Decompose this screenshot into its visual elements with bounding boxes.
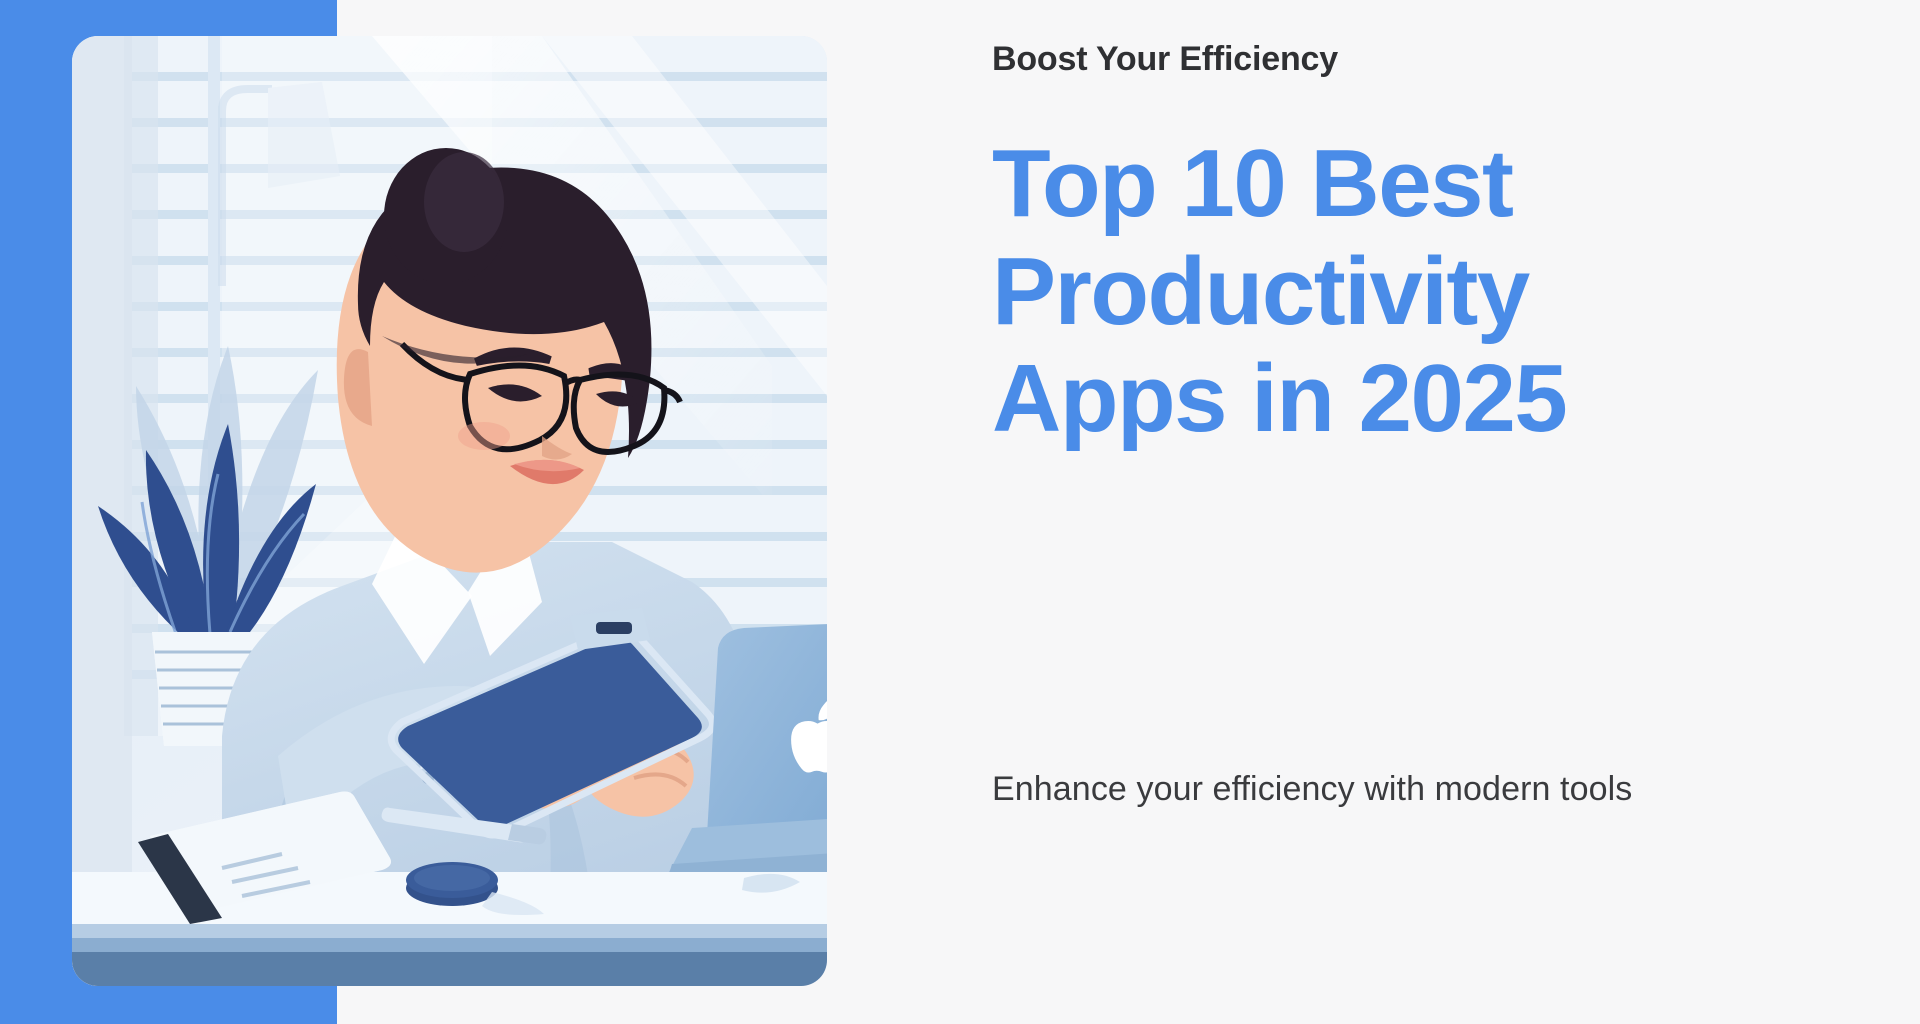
headline-line-2: Productivity [992,238,1822,346]
desk-band-light [72,924,827,938]
text-column: Boost Your Efficiency Top 10 Best Produc… [992,0,1822,1024]
blog-banner: Boost Your Efficiency Top 10 Best Produc… [0,0,1920,1024]
desk-band-mid [72,938,827,952]
headline-line-3: Apps in 2025 [992,345,1822,453]
subtitle-text: Enhance your efficiency with modern tool… [992,770,1632,809]
illustration-card [72,36,827,986]
page-title: Top 10 Best Productivity Apps in 2025 [992,130,1822,453]
headline-line-1: Top 10 Best [992,130,1822,238]
desk-scene-illustration [72,36,827,986]
eyebrow-label: Boost Your Efficiency [992,40,1338,79]
desk-band-dark [72,952,827,986]
